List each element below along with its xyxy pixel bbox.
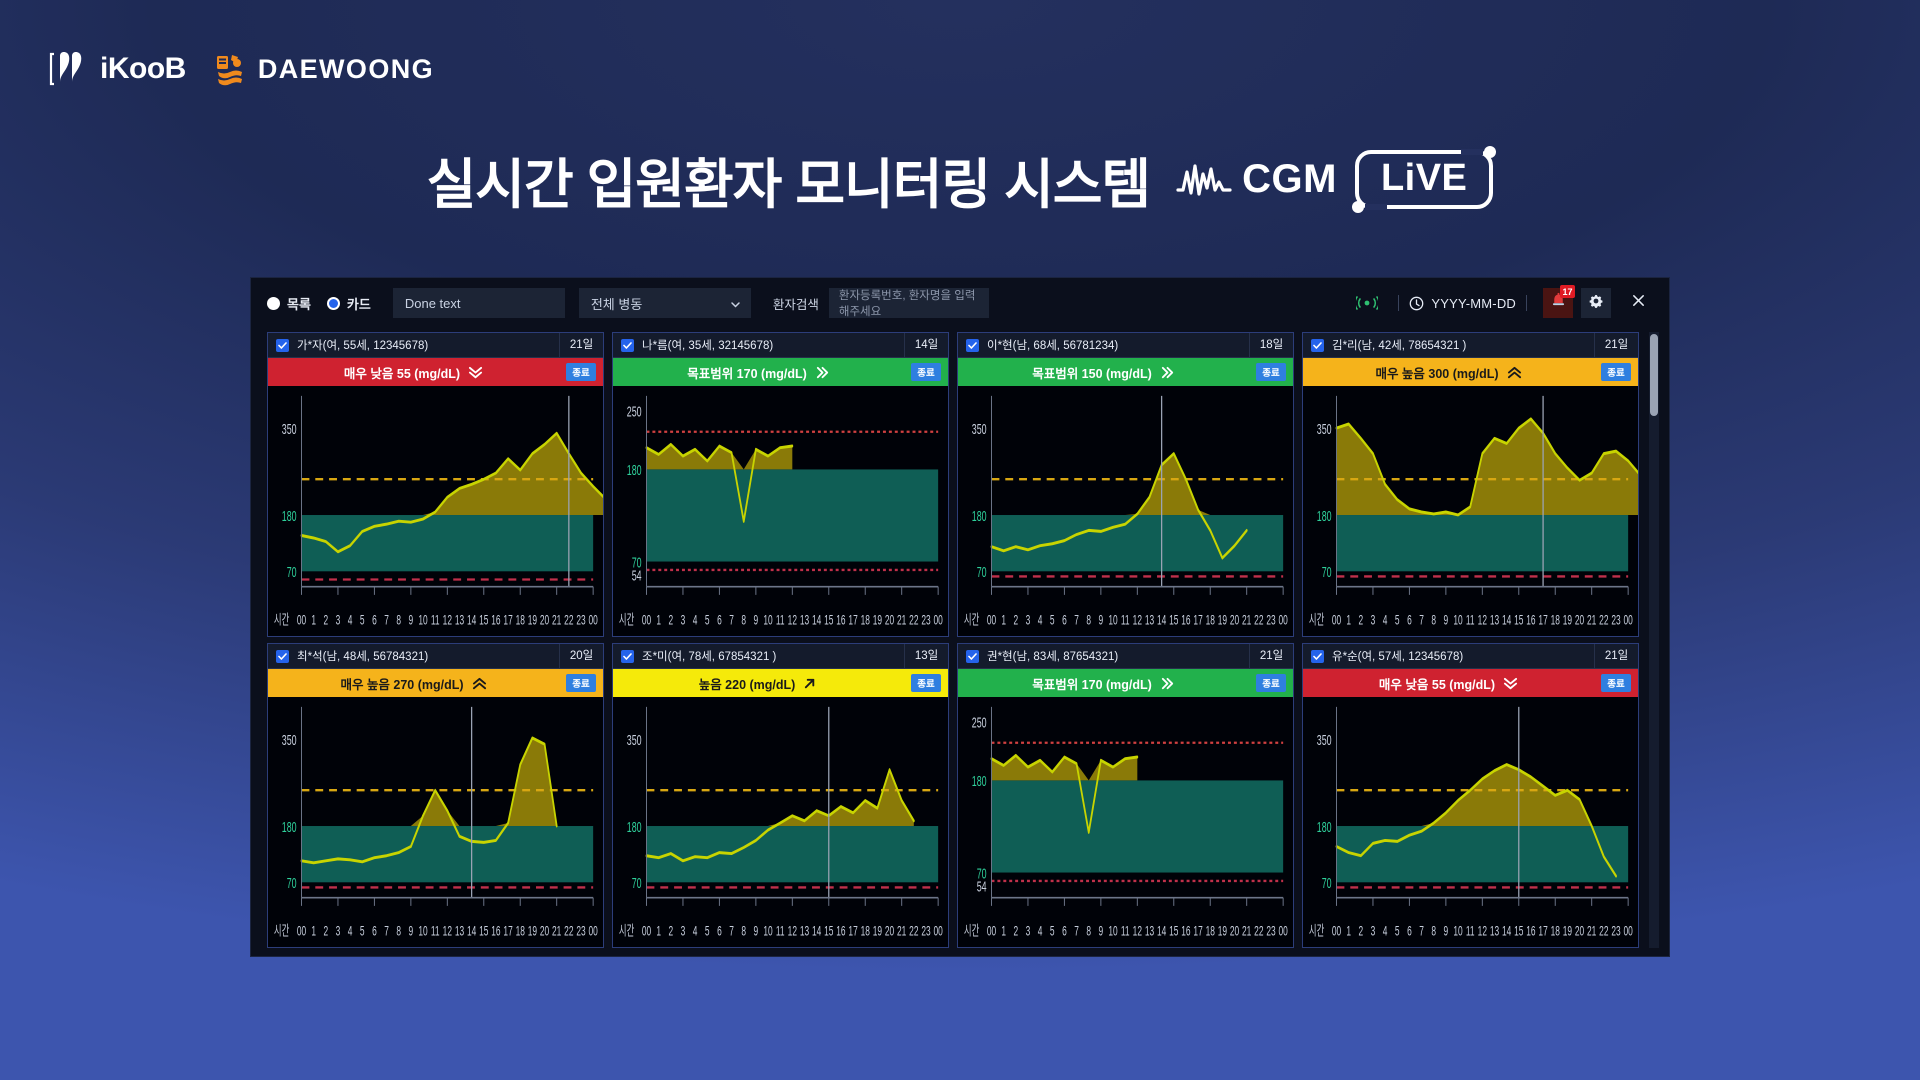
- svg-text:9: 9: [1099, 925, 1104, 940]
- end-monitoring-button[interactable]: 종료: [1601, 363, 1630, 381]
- svg-text:22: 22: [909, 614, 918, 629]
- svg-text:10: 10: [418, 614, 427, 629]
- svg-text:4: 4: [1038, 614, 1043, 629]
- svg-text:4: 4: [693, 614, 698, 629]
- svg-text:11: 11: [776, 925, 785, 940]
- svg-text:22: 22: [1599, 925, 1608, 940]
- svg-text:18: 18: [516, 614, 525, 629]
- svg-text:18: 18: [1206, 925, 1215, 940]
- svg-text:19: 19: [873, 614, 882, 629]
- svg-text:250: 250: [627, 403, 642, 420]
- glucose-trend-chart[interactable]: 2501807054시간0012345678910111213141516171…: [958, 697, 1293, 947]
- svg-text:17: 17: [1193, 925, 1202, 940]
- patient-name-label: 최*석(남, 48세, 56784321): [297, 648, 559, 664]
- svg-text:15: 15: [1169, 925, 1178, 940]
- patient-select-checkbox[interactable]: [1311, 650, 1324, 663]
- status-main: 높음 220 (mg/dL): [613, 669, 904, 697]
- patient-name-label: 이*현(남, 68세, 56781234): [987, 337, 1249, 353]
- svg-text:23: 23: [1266, 925, 1275, 940]
- svg-text:16: 16: [491, 614, 500, 629]
- svg-text:180: 180: [282, 507, 297, 524]
- svg-text:17: 17: [503, 925, 512, 940]
- double-chevron-up-icon: [472, 677, 487, 690]
- svg-text:12: 12: [788, 614, 797, 629]
- svg-text:22: 22: [564, 925, 573, 940]
- svg-text:70: 70: [977, 564, 987, 581]
- svg-text:21: 21: [897, 925, 906, 940]
- svg-text:17: 17: [848, 925, 857, 940]
- svg-text:15: 15: [479, 614, 488, 629]
- patient-days-label: 13일: [904, 644, 948, 668]
- svg-text:23: 23: [1611, 925, 1620, 940]
- badge-dot-bottom-left: [1352, 201, 1364, 213]
- svg-text:19: 19: [1563, 925, 1572, 940]
- glucose-status-label: 매우 낮음 55 (mg/dL): [344, 363, 460, 382]
- svg-text:7: 7: [729, 614, 734, 629]
- patient-status-bar: 매우 높음 270 (mg/dL) 종료: [268, 669, 603, 697]
- toolbar: 목록 카드 Done text 전체 병동 환자검색 환자등록번호, 환자명을 …: [251, 278, 1669, 328]
- svg-text:12: 12: [1133, 614, 1142, 629]
- gear-icon: [1588, 293, 1604, 314]
- status-end-cell: 종료: [559, 358, 603, 386]
- svg-text:6: 6: [1407, 925, 1412, 940]
- patient-select-checkbox[interactable]: [621, 339, 634, 352]
- double-chevron-down-icon: [468, 366, 483, 379]
- svg-text:12: 12: [443, 614, 452, 629]
- patient-card[interactable]: 권*현(남, 83세, 87654321) 21일 목표범위 170 (mg/d…: [957, 643, 1294, 948]
- double-chevron-down-icon: [1503, 677, 1518, 690]
- svg-text:22: 22: [1254, 614, 1263, 629]
- svg-text:70: 70: [1322, 875, 1332, 892]
- end-monitoring-button[interactable]: 종료: [1256, 674, 1285, 692]
- page-title: 실시간 입원환자 모니터링 시스템: [427, 140, 1151, 219]
- patient-card-header: 김*리(남, 42세, 78654321 ) 21일: [1303, 333, 1638, 358]
- svg-text:14: 14: [467, 925, 477, 940]
- cgm-live-logo: CGM LiVE: [1176, 150, 1493, 209]
- svg-text:5: 5: [705, 925, 710, 940]
- badge-notch-bottom: [1365, 204, 1387, 210]
- patient-status-bar: 목표범위 170 (mg/dL) 종료: [613, 358, 948, 386]
- status-end-cell: 종료: [1594, 669, 1638, 697]
- patient-card[interactable]: 나*름(여, 35세, 32145678) 14일 목표범위 170 (mg/d…: [612, 332, 949, 637]
- svg-text:시간: 시간: [964, 612, 980, 628]
- daewoong-bear-mark-icon: [212, 51, 248, 87]
- svg-text:54: 54: [632, 567, 642, 584]
- svg-text:9: 9: [409, 614, 414, 629]
- svg-text:13: 13: [455, 925, 464, 940]
- patient-card[interactable]: 가*자(여, 55세, 12345678) 21일 매우 낮음 55 (mg/d…: [267, 332, 604, 637]
- double-chevron-right-icon: [815, 366, 830, 379]
- svg-text:12: 12: [1133, 925, 1142, 940]
- ward-select[interactable]: 전체 병동: [579, 288, 751, 318]
- patient-name-label: 권*현(남, 83세, 87654321): [987, 648, 1249, 664]
- svg-text:7: 7: [729, 925, 734, 940]
- patient-card-header: 권*현(남, 83세, 87654321) 21일: [958, 644, 1293, 669]
- svg-text:17: 17: [1193, 614, 1202, 629]
- svg-text:18: 18: [861, 925, 870, 940]
- svg-text:00: 00: [933, 614, 942, 629]
- svg-text:3: 3: [336, 925, 341, 940]
- svg-text:22: 22: [909, 925, 918, 940]
- svg-text:시간: 시간: [619, 923, 635, 939]
- arrow-up-right-icon: [803, 677, 818, 690]
- svg-text:4: 4: [1383, 925, 1388, 940]
- toolbar-divider-1: [1398, 295, 1399, 311]
- svg-text:16: 16: [836, 925, 845, 940]
- svg-text:1: 1: [311, 925, 316, 940]
- patient-card-area: 가*자(여, 55세, 12345678) 21일 매우 낮음 55 (mg/d…: [251, 328, 1669, 956]
- patient-status-bar: 매우 낮음 55 (mg/dL) 종료: [1303, 669, 1638, 697]
- patient-card-header: 이*현(남, 68세, 56781234) 18일: [958, 333, 1293, 358]
- ikoob-logo: iKooB: [48, 48, 186, 90]
- status-main: 매우 낮음 55 (mg/dL): [1303, 669, 1594, 697]
- end-monitoring-button[interactable]: 종료: [911, 363, 940, 381]
- end-monitoring-button[interactable]: 종료: [1256, 363, 1285, 381]
- radio-card-icon[interactable]: [327, 297, 340, 310]
- svg-text:00: 00: [588, 925, 597, 940]
- svg-text:23: 23: [1266, 614, 1275, 629]
- svg-text:20: 20: [1575, 925, 1584, 940]
- svg-text:21: 21: [552, 614, 561, 629]
- radio-list-icon[interactable]: [267, 297, 280, 310]
- patient-search-input[interactable]: 환자등록번호, 환자명을 입력해주세요: [829, 288, 989, 318]
- glucose-status-label: 목표범위 170 (mg/dL): [1032, 674, 1152, 693]
- svg-text:시간: 시간: [274, 612, 290, 628]
- patient-card-header: 유*순(여, 57세, 12345678) 21일: [1303, 644, 1638, 669]
- view-mode-card-label: 카드: [347, 294, 371, 313]
- status-end-cell: 종료: [559, 669, 603, 697]
- svg-text:20: 20: [1230, 925, 1239, 940]
- settings-button[interactable]: [1581, 288, 1611, 318]
- svg-text:11: 11: [431, 925, 440, 940]
- svg-text:12: 12: [1478, 614, 1487, 629]
- svg-text:15: 15: [1514, 614, 1523, 629]
- svg-text:2: 2: [1358, 614, 1363, 629]
- alarm-button[interactable]: 17: [1543, 288, 1573, 318]
- svg-text:5: 5: [1395, 614, 1400, 629]
- svg-text:22: 22: [564, 614, 573, 629]
- svg-text:00: 00: [1332, 614, 1341, 629]
- svg-text:16: 16: [1181, 925, 1190, 940]
- svg-text:1: 1: [311, 614, 316, 629]
- svg-text:5: 5: [360, 614, 365, 629]
- svg-text:8: 8: [741, 614, 746, 629]
- svg-text:16: 16: [1526, 925, 1535, 940]
- svg-text:7: 7: [1074, 614, 1079, 629]
- svg-text:15: 15: [824, 925, 833, 940]
- view-mode-list-label: 목록: [287, 294, 311, 313]
- patient-status-bar: 높음 220 (mg/dL) 종료: [613, 669, 948, 697]
- toolbar-right-controls: YYYY-MM-DD 17: [1356, 288, 1655, 318]
- svg-text:00: 00: [1332, 925, 1341, 940]
- scrollbar-thumb[interactable]: [1650, 334, 1658, 416]
- svg-text:17: 17: [503, 614, 512, 629]
- double-chevron-right-icon: [1160, 677, 1175, 690]
- svg-text:23: 23: [576, 925, 585, 940]
- svg-text:11: 11: [1466, 925, 1475, 940]
- svg-text:7: 7: [1419, 614, 1424, 629]
- svg-text:6: 6: [717, 925, 722, 940]
- svg-text:11: 11: [431, 614, 440, 629]
- svg-text:9: 9: [754, 925, 759, 940]
- svg-text:10: 10: [1453, 614, 1462, 629]
- status-end-cell: 종료: [904, 669, 948, 697]
- toolbar-divider-2: [1526, 295, 1527, 311]
- svg-text:20: 20: [540, 614, 549, 629]
- svg-text:18: 18: [1551, 925, 1560, 940]
- svg-text:7: 7: [1074, 925, 1079, 940]
- svg-text:3: 3: [681, 925, 686, 940]
- svg-text:9: 9: [1099, 614, 1104, 629]
- svg-text:6: 6: [1062, 925, 1067, 940]
- svg-text:10: 10: [1108, 925, 1117, 940]
- cgm-wordmark: CGM: [1242, 157, 1337, 202]
- svg-text:15: 15: [1514, 925, 1523, 940]
- close-button[interactable]: [1621, 288, 1655, 318]
- patient-card-header: 나*름(여, 35세, 32145678) 14일: [613, 333, 948, 358]
- glucose-status-label: 매우 높음 300 (mg/dL): [1375, 363, 1498, 382]
- svg-text:18: 18: [1551, 614, 1560, 629]
- patient-card[interactable]: 김*리(남, 42세, 78654321 ) 21일 매우 높음 300 (mg…: [1302, 332, 1639, 637]
- ikoob-wordmark: iKooB: [100, 52, 186, 86]
- svg-text:시간: 시간: [274, 923, 290, 939]
- svg-text:19: 19: [528, 614, 537, 629]
- patient-select-checkbox[interactable]: [966, 339, 979, 352]
- svg-text:14: 14: [812, 925, 822, 940]
- close-icon: [1631, 293, 1646, 313]
- svg-text:3: 3: [1026, 925, 1031, 940]
- svg-text:14: 14: [1157, 614, 1167, 629]
- svg-text:12: 12: [443, 925, 452, 940]
- svg-text:3: 3: [1371, 925, 1376, 940]
- svg-text:14: 14: [1157, 925, 1167, 940]
- svg-text:6: 6: [372, 925, 377, 940]
- waveform-icon: [1176, 160, 1232, 200]
- status-end-cell: 종료: [904, 358, 948, 386]
- svg-text:70: 70: [287, 875, 297, 892]
- svg-text:00: 00: [642, 614, 651, 629]
- status-main: 매우 높음 270 (mg/dL): [268, 669, 559, 697]
- patient-status-bar: 매우 높음 300 (mg/dL) 종료: [1303, 358, 1638, 386]
- svg-text:시간: 시간: [1309, 612, 1325, 628]
- svg-text:11: 11: [1466, 614, 1475, 629]
- glucose-status-label: 목표범위 150 (mg/dL): [1032, 363, 1152, 382]
- svg-text:180: 180: [972, 507, 987, 524]
- svg-text:20: 20: [1575, 614, 1584, 629]
- svg-text:17: 17: [1538, 925, 1547, 940]
- svg-text:19: 19: [873, 925, 882, 940]
- svg-text:21: 21: [1242, 925, 1251, 940]
- wifi-signal-icon: [1356, 295, 1378, 311]
- svg-text:00: 00: [297, 614, 306, 629]
- svg-text:10: 10: [763, 925, 772, 940]
- svg-text:1: 1: [656, 614, 661, 629]
- svg-text:시간: 시간: [1309, 923, 1325, 939]
- svg-text:2: 2: [1013, 614, 1018, 629]
- svg-text:15: 15: [824, 614, 833, 629]
- svg-text:9: 9: [1444, 614, 1449, 629]
- svg-text:15: 15: [479, 925, 488, 940]
- svg-text:8: 8: [396, 925, 401, 940]
- badge-dot-top-right: [1484, 146, 1496, 158]
- svg-text:19: 19: [1218, 925, 1227, 940]
- svg-text:180: 180: [627, 462, 642, 479]
- done-text-input[interactable]: Done text: [393, 288, 565, 318]
- svg-text:11: 11: [1121, 614, 1130, 629]
- svg-text:21: 21: [552, 925, 561, 940]
- svg-text:5: 5: [360, 925, 365, 940]
- patient-select-checkbox[interactable]: [621, 650, 634, 663]
- end-monitoring-button[interactable]: 종료: [566, 363, 595, 381]
- svg-text:3: 3: [681, 614, 686, 629]
- svg-text:20: 20: [1230, 614, 1239, 629]
- svg-text:19: 19: [528, 925, 537, 940]
- status-main: 목표범위 150 (mg/dL): [958, 358, 1249, 386]
- patient-card-header: 가*자(여, 55세, 12345678) 21일: [268, 333, 603, 358]
- svg-text:180: 180: [627, 818, 642, 835]
- daewoong-logo: DAEWOONG: [212, 51, 434, 87]
- svg-text:21: 21: [1242, 614, 1251, 629]
- glucose-trend-chart[interactable]: 35018070시간001234567891011121314151617181…: [958, 386, 1293, 636]
- svg-text:13: 13: [455, 614, 464, 629]
- status-end-cell: 종료: [1249, 358, 1293, 386]
- glucose-trend-chart[interactable]: 35018070시간001234567891011121314151617181…: [268, 697, 603, 947]
- svg-text:8: 8: [1086, 614, 1091, 629]
- patient-card[interactable]: 유*순(여, 57세, 12345678) 21일 매우 낮음 55 (mg/d…: [1302, 643, 1639, 948]
- double-chevron-right-icon: [1160, 366, 1175, 379]
- svg-text:6: 6: [717, 614, 722, 629]
- svg-text:350: 350: [282, 731, 297, 748]
- svg-text:16: 16: [1181, 614, 1190, 629]
- patient-status-bar: 목표범위 150 (mg/dL) 종료: [958, 358, 1293, 386]
- svg-text:15: 15: [1169, 614, 1178, 629]
- page-headline: 실시간 입원환자 모니터링 시스템 CGM LiVE: [0, 140, 1920, 219]
- svg-text:2: 2: [668, 925, 673, 940]
- view-mode-list[interactable]: 목록: [267, 294, 311, 313]
- daewoong-wordmark: DAEWOONG: [258, 54, 434, 85]
- patient-days-label: 21일: [1249, 644, 1293, 668]
- svg-text:5: 5: [705, 614, 710, 629]
- alarm-count-badge: 17: [1560, 285, 1575, 298]
- svg-text:8: 8: [741, 925, 746, 940]
- status-main: 매우 낮음 55 (mg/dL): [268, 358, 559, 386]
- patient-card[interactable]: 최*석(남, 48세, 56784321) 20일 매우 높음 270 (mg/…: [267, 643, 604, 948]
- svg-text:00: 00: [987, 614, 996, 629]
- svg-text:21: 21: [1587, 614, 1596, 629]
- monitoring-app-window: 목록 카드 Done text 전체 병동 환자검색 환자등록번호, 환자명을 …: [250, 277, 1670, 957]
- svg-text:350: 350: [1317, 731, 1332, 748]
- svg-text:180: 180: [972, 773, 987, 790]
- svg-text:20: 20: [540, 925, 549, 940]
- patient-days-label: 14일: [904, 333, 948, 357]
- svg-text:250: 250: [972, 714, 987, 731]
- glucose-trend-chart[interactable]: 2501807054시간0012345678910111213141516171…: [613, 386, 948, 636]
- svg-text:18: 18: [1206, 614, 1215, 629]
- patient-card[interactable]: 조*미(여, 78세, 67854321 ) 13일 높음 220 (mg/dL…: [612, 643, 949, 948]
- svg-text:12: 12: [788, 925, 797, 940]
- svg-text:9: 9: [1444, 925, 1449, 940]
- glucose-trend-chart[interactable]: 35018070시간001234567891011121314151617181…: [1303, 386, 1638, 636]
- svg-text:00: 00: [987, 925, 996, 940]
- svg-text:22: 22: [1254, 925, 1263, 940]
- svg-text:23: 23: [921, 925, 930, 940]
- patient-card-grid: 가*자(여, 55세, 12345678) 21일 매우 낮음 55 (mg/d…: [267, 332, 1639, 948]
- vertical-scrollbar[interactable]: [1649, 332, 1659, 948]
- svg-text:16: 16: [491, 925, 500, 940]
- svg-text:19: 19: [1563, 614, 1572, 629]
- glucose-trend-chart[interactable]: 35018070시간001234567891011121314151617181…: [1303, 697, 1638, 947]
- svg-text:5: 5: [1395, 925, 1400, 940]
- svg-text:19: 19: [1218, 614, 1227, 629]
- end-monitoring-button[interactable]: 종료: [911, 674, 940, 692]
- current-date: YYYY-MM-DD: [1431, 296, 1516, 311]
- patient-name-label: 김*리(남, 42세, 78654321 ): [1332, 337, 1594, 353]
- patient-name-label: 가*자(여, 55세, 12345678): [297, 337, 559, 353]
- svg-text:350: 350: [282, 420, 297, 437]
- svg-text:13: 13: [1145, 614, 1154, 629]
- patient-name-label: 조*미(여, 78세, 67854321 ): [642, 648, 904, 664]
- svg-text:18: 18: [861, 614, 870, 629]
- svg-text:00: 00: [933, 925, 942, 940]
- patient-select-checkbox[interactable]: [966, 650, 979, 663]
- svg-text:00: 00: [642, 925, 651, 940]
- svg-text:21: 21: [1587, 925, 1596, 940]
- status-end-cell: 종료: [1249, 669, 1293, 697]
- svg-text:20: 20: [885, 925, 894, 940]
- svg-text:9: 9: [409, 925, 414, 940]
- patient-select-checkbox[interactable]: [276, 650, 289, 663]
- svg-text:17: 17: [1538, 614, 1547, 629]
- svg-text:2: 2: [1013, 925, 1018, 940]
- patient-select-checkbox[interactable]: [276, 339, 289, 352]
- svg-text:23: 23: [576, 614, 585, 629]
- svg-text:10: 10: [418, 925, 427, 940]
- patient-name-label: 나*름(여, 35세, 32145678): [642, 337, 904, 353]
- svg-text:2: 2: [323, 925, 328, 940]
- glucose-status-label: 높음 220 (mg/dL): [699, 674, 796, 693]
- svg-text:1: 1: [1001, 614, 1006, 629]
- view-mode-radio-group: 목록 카드: [267, 294, 371, 313]
- svg-text:350: 350: [627, 731, 642, 748]
- view-mode-card[interactable]: 카드: [327, 294, 371, 313]
- svg-text:8: 8: [396, 614, 401, 629]
- svg-text:10: 10: [763, 614, 772, 629]
- glucose-status-label: 매우 낮음 55 (mg/dL): [1379, 674, 1495, 693]
- svg-text:21: 21: [897, 614, 906, 629]
- svg-text:00: 00: [1623, 614, 1632, 629]
- glucose-trend-chart[interactable]: 35018070시간001234567891011121314151617181…: [613, 697, 948, 947]
- svg-text:6: 6: [1062, 614, 1067, 629]
- svg-text:14: 14: [1502, 925, 1512, 940]
- svg-text:13: 13: [1490, 614, 1499, 629]
- end-monitoring-button[interactable]: 종료: [566, 674, 595, 692]
- svg-text:11: 11: [776, 614, 785, 629]
- svg-text:20: 20: [885, 614, 894, 629]
- svg-text:70: 70: [1322, 564, 1332, 581]
- patient-card[interactable]: 이*현(남, 68세, 56781234) 18일 목표범위 150 (mg/d…: [957, 332, 1294, 637]
- glucose-trend-chart[interactable]: 35018070시간001234567891011121314151617181…: [268, 386, 603, 636]
- svg-text:00: 00: [588, 614, 597, 629]
- svg-text:00: 00: [1623, 925, 1632, 940]
- patient-select-checkbox[interactable]: [1311, 339, 1324, 352]
- svg-text:11: 11: [1121, 925, 1130, 940]
- svg-text:8: 8: [1086, 925, 1091, 940]
- end-monitoring-button[interactable]: 종료: [1601, 674, 1630, 692]
- svg-text:00: 00: [1278, 614, 1287, 629]
- svg-text:180: 180: [1317, 818, 1332, 835]
- svg-text:13: 13: [1490, 925, 1499, 940]
- svg-text:8: 8: [1431, 614, 1436, 629]
